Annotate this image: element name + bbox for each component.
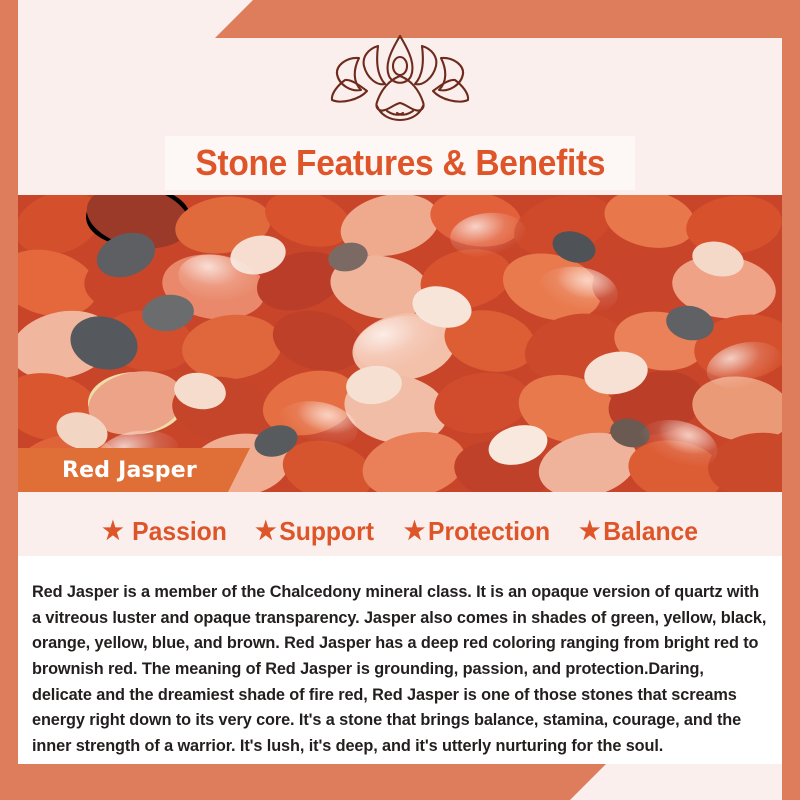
- stone-photo: [18, 195, 782, 492]
- benefit-label: Support: [280, 516, 375, 547]
- benefit-balance: ★ Balance: [579, 516, 698, 547]
- stone-name-label: Red Jasper: [18, 458, 197, 483]
- benefit-passion: ★ Passion: [103, 516, 228, 547]
- star-icon: ★: [103, 519, 124, 544]
- benefits-row: ★ Passion ★ Support ★ Protection ★ Balan…: [18, 516, 782, 547]
- star-icon: ★: [579, 519, 600, 544]
- benefit-protection: ★ Protection: [403, 516, 549, 547]
- star-icon: ★: [403, 519, 424, 544]
- description-panel: Red Jasper is a member of the Chalcedony…: [18, 556, 782, 764]
- benefit-support: ★ Support: [256, 516, 375, 547]
- lotus-meditation-icon: [315, 28, 485, 128]
- benefit-label: Balance: [603, 516, 698, 547]
- bottom-accent-band: [0, 764, 606, 800]
- benefit-label: Protection: [428, 516, 550, 547]
- title-banner: Stone Features & Benefits: [165, 136, 635, 190]
- stone-photo-graphic: [18, 195, 782, 492]
- star-icon: ★: [256, 519, 277, 544]
- benefit-label: Passion: [132, 516, 227, 547]
- page-title: Stone Features & Benefits: [195, 145, 605, 181]
- infographic-page: BUDDHA STONES Stone Features & Benefits: [0, 0, 800, 800]
- description-text: Red Jasper is a member of the Chalcedony…: [32, 580, 768, 759]
- stone-name-ribbon: Red Jasper: [18, 448, 250, 492]
